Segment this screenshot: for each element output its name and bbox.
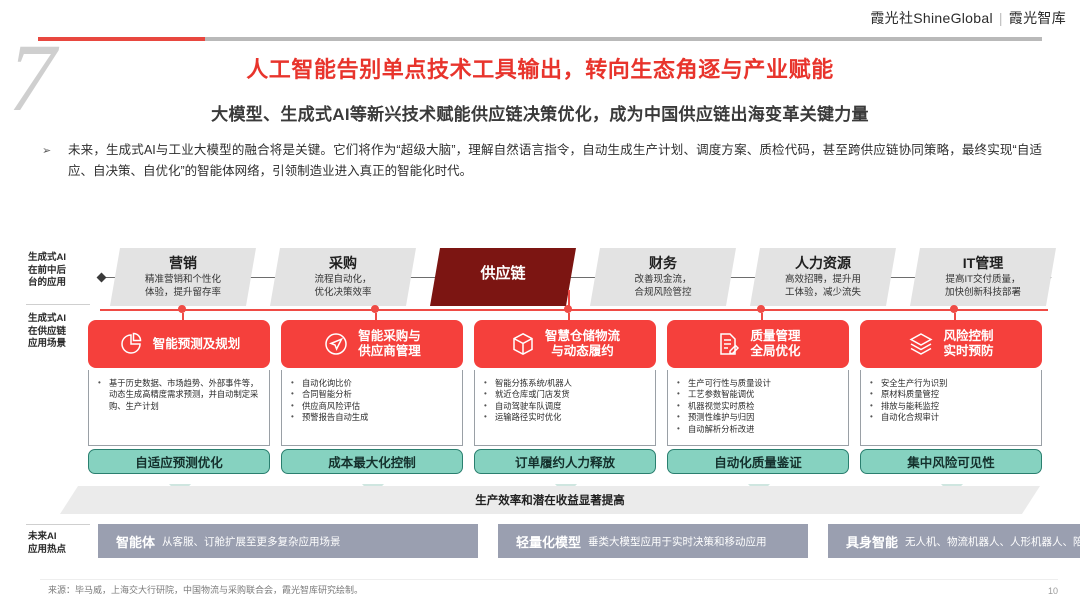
- card-title: 智慧仓储物流与动态履约: [545, 329, 620, 359]
- axis-label-frontoffice: 生成式AI 在前中后 台的应用: [28, 252, 92, 290]
- axis-label-future-ai-l1: 未来AI: [28, 531, 92, 544]
- supplychain-connector: [568, 290, 570, 310]
- card-bullet-item: 智能分拣系统/机器人: [483, 378, 649, 389]
- flow-box-3[interactable]: 供应链: [430, 248, 576, 306]
- card-body: 基于历史数据、市场趋势、外部事件等，动态生成高精度需求预测，并自动制定采购、生产…: [88, 370, 270, 446]
- flow-box-subtitle: 改善现金流，合规风险管控: [590, 274, 736, 299]
- brand-logo: 霞光社ShineGlobal|霞光智库: [870, 8, 1066, 28]
- outcome-banner-text: 生产效率和潜在收益显著提高: [475, 492, 625, 508]
- axis-node-1: [178, 305, 186, 313]
- future-ai-hotspots: 智能体从客服、订舱扩展至更多复杂应用场景轻量化模型垂类大模型应用于实时决策和移动…: [98, 524, 1048, 558]
- cube-icon: [510, 331, 536, 357]
- application-card-5[interactable]: 风险控制实时预防安全生产行为识别原材料质量管控排放与能耗监控自动化合规审计集中风…: [860, 320, 1042, 474]
- supplychain-axis-line: [100, 309, 1048, 311]
- card-body: 自动化询比价合同智能分析供应商风险评估预警报告自动生成: [281, 370, 463, 446]
- header-rule-grey: [205, 37, 1042, 41]
- layers-icon: [908, 331, 934, 357]
- axis-label-frontoffice-l2: 在前中后: [28, 265, 92, 278]
- card-bullet-item: 自动化合规审计: [869, 412, 1035, 423]
- card-header: 风险控制实时预防: [860, 320, 1042, 368]
- value-chain-flow: 营销精准营销和个性化体验，提升留存率采购流程自动化，优化决策效率供应链财务改善现…: [100, 248, 1048, 306]
- outcome-banner: 生产效率和潜在收益显著提高: [60, 486, 1040, 514]
- card-body: 智能分拣系统/机器人就近仓库或门店发货自动驾驶车队调度运输路径实时优化: [474, 370, 656, 446]
- flow-box-title: 供应链: [430, 265, 576, 283]
- intro-paragraph: ➢ 未来，生成式AI与工业大模型的融合将是关键。它们将作为“超级大脑”，理解自然…: [42, 140, 1042, 182]
- hotspot-1[interactable]: 智能体从客服、订舱扩展至更多复杂应用场景: [98, 524, 478, 558]
- flow-box-2[interactable]: 采购流程自动化，优化决策效率: [270, 248, 416, 306]
- card-header: 智能预测及规划: [88, 320, 270, 368]
- hotspot-key: 轻量化模型: [516, 532, 581, 551]
- footer-divider: [40, 579, 1058, 580]
- application-card-3[interactable]: 智慧仓储物流与动态履约智能分拣系统/机器人就近仓库或门店发货自动驾驶车队调度运输…: [474, 320, 656, 474]
- flow-box-4[interactable]: 财务改善现金流，合规风险管控: [590, 248, 736, 306]
- flow-box-title: 采购: [270, 254, 416, 272]
- card-bullet-list: 自动化询比价合同智能分析供应商风险评估预警报告自动生成: [290, 378, 456, 424]
- hotspot-key: 智能体: [116, 532, 155, 551]
- axis-node-5: [950, 305, 958, 313]
- hotspot-value: 从客服、订舱扩展至更多复杂应用场景: [162, 534, 341, 549]
- card-header: 智慧仓储物流与动态履约: [474, 320, 656, 368]
- card-bullet-item: 生产可行性与质量设计: [676, 378, 842, 389]
- card-bullet-item: 工艺参数智能调优: [676, 389, 842, 400]
- axis-divider-bottom: [26, 524, 90, 525]
- card-body: 生产可行性与质量设计工艺参数智能调优机器视觉实时质检预测性维护与归因自动解析分析…: [667, 370, 849, 446]
- application-card-2[interactable]: 智能采购与供应商管理自动化询比价合同智能分析供应商风险评估预警报告自动生成成本最…: [281, 320, 463, 474]
- card-outcome-tag[interactable]: 自适应预测优化: [88, 449, 270, 474]
- application-card-4[interactable]: 质量管理全局优化生产可行性与质量设计工艺参数智能调优机器视觉实时质检预测性维护与…: [667, 320, 849, 474]
- card-outcome-tag[interactable]: 订单履约人力释放: [474, 449, 656, 474]
- bullet-arrow-icon: ➢: [42, 141, 51, 162]
- card-bullet-item: 基于历史数据、市场趋势、外部事件等，动态生成高精度需求预测，并自动制定采购、生产…: [97, 378, 263, 412]
- header-rule-red: [38, 37, 205, 41]
- axis-label-future-ai: 未来AI 应用热点: [28, 531, 92, 556]
- flow-box-subtitle: 流程自动化，优化决策效率: [270, 274, 416, 299]
- axis-divider-top: [26, 304, 90, 305]
- card-bullet-item: 安全生产行为识别: [869, 378, 1035, 389]
- card-bullet-item: 运输路径实时优化: [483, 412, 649, 423]
- brand-left: 霞光社ShineGlobal: [870, 10, 992, 26]
- card-bullet-item: 自动化询比价: [290, 378, 456, 389]
- axis-node-4: [757, 305, 765, 313]
- hotspot-key: 具身智能: [846, 532, 898, 551]
- flow-box-subtitle: 提高IT交付质量，加快创新科技部署: [910, 274, 1056, 299]
- hotspot-2[interactable]: 轻量化模型垂类大模型应用于实时决策和移动应用: [498, 524, 808, 558]
- card-outcome-tag[interactable]: 集中风险可见性: [860, 449, 1042, 474]
- flow-box-title: 营销: [110, 254, 256, 272]
- flow-box-6[interactable]: IT管理提高IT交付质量，加快创新科技部署: [910, 248, 1056, 306]
- card-outcome-tag[interactable]: 成本最大化控制: [281, 449, 463, 474]
- card-header: 质量管理全局优化: [667, 320, 849, 368]
- flow-box-subtitle: 高效招聘，提升用工体验，减少流失: [750, 274, 896, 299]
- paper-plane-icon: [323, 331, 349, 357]
- application-cards: 智能预测及规划基于历史数据、市场趋势、外部事件等，动态生成高精度需求预测，并自动…: [88, 320, 1048, 480]
- card-outcome-tag[interactable]: 自动化质量鉴证: [667, 449, 849, 474]
- flow-box-subtitle: 精准营销和个性化体验，提升留存率: [110, 274, 256, 299]
- axis-label-frontoffice-l3: 台的应用: [28, 277, 92, 290]
- header-rule: [38, 37, 1042, 41]
- axis-label-supplychain-l3: 应用场景: [28, 338, 92, 351]
- card-bullet-item: 机器视觉实时质检: [676, 401, 842, 412]
- source-note: 来源：毕马威，上海交大行研院，中国物流与采购联合会，霞光智库研究绘制。: [48, 583, 363, 596]
- card-bullet-item: 自动驾驶车队调度: [483, 401, 649, 412]
- intro-paragraph-text: 未来，生成式AI与工业大模型的融合将是关键。它们将作为“超级大脑”，理解自然语言…: [68, 140, 1042, 182]
- application-card-1[interactable]: 智能预测及规划基于历史数据、市场趋势、外部事件等，动态生成高精度需求预测，并自动…: [88, 320, 270, 474]
- card-body: 安全生产行为识别原材料质量管控排放与能耗监控自动化合规审计: [860, 370, 1042, 446]
- axis-label-frontoffice-l1: 生成式AI: [28, 252, 92, 265]
- brand-right: 霞光智库: [1009, 10, 1066, 26]
- hotspot-value: 垂类大模型应用于实时决策和移动应用: [588, 534, 767, 549]
- card-bullet-item: 排放与能耗监控: [869, 401, 1035, 412]
- axis-label-future-ai-l2: 应用热点: [28, 544, 92, 557]
- card-bullet-list: 基于历史数据、市场趋势、外部事件等，动态生成高精度需求预测，并自动制定采购、生产…: [97, 378, 263, 412]
- axis-label-supplychain-l1: 生成式AI: [28, 313, 92, 326]
- card-bullet-item: 预警报告自动生成: [290, 412, 456, 423]
- card-header: 智能采购与供应商管理: [281, 320, 463, 368]
- pie-chart-icon: [118, 331, 144, 357]
- card-bullet-item: 原材料质量管控: [869, 389, 1035, 400]
- brand-separator: |: [999, 10, 1003, 26]
- card-bullet-item: 就近仓库或门店发货: [483, 389, 649, 400]
- card-bullet-item: 合同智能分析: [290, 389, 456, 400]
- flow-box-title: 人力资源: [750, 254, 896, 272]
- card-title: 风险控制实时预防: [943, 329, 993, 359]
- hotspot-value: 无人机、物流机器人、人形机器人、陪伴机器人: [905, 534, 1080, 549]
- card-bullet-item: 自动解析分析改进: [676, 424, 842, 435]
- card-title: 智能采购与供应商管理: [358, 329, 421, 359]
- flow-box-title: 财务: [590, 254, 736, 272]
- page-title: 人工智能告别单点技术工具输出，转向生态角逐与产业赋能: [0, 52, 1080, 84]
- card-bullet-list: 生产可行性与质量设计工艺参数智能调优机器视觉实时质检预测性维护与归因自动解析分析…: [676, 378, 842, 435]
- hotspot-3[interactable]: 具身智能无人机、物流机器人、人形机器人、陪伴机器人: [828, 524, 1080, 558]
- page-number: 10: [1048, 586, 1058, 596]
- axis-label-supplychain: 生成式AI 在供应链 应用场景: [28, 313, 92, 351]
- card-title: 质量管理全局优化: [750, 329, 800, 359]
- axis-label-supplychain-l2: 在供应链: [28, 326, 92, 339]
- card-bullet-list: 智能分拣系统/机器人就近仓库或门店发货自动驾驶车队调度运输路径实时优化: [483, 378, 649, 424]
- flow-box-1[interactable]: 营销精准营销和个性化体验，提升留存率: [110, 248, 256, 306]
- axis-node-2: [371, 305, 379, 313]
- page-subtitle: 大模型、生成式AI等新兴技术赋能供应链决策优化，成为中国供应链出海变革关键力量: [0, 100, 1080, 125]
- document-edit-icon: [715, 331, 741, 357]
- flow-box-title: IT管理: [910, 254, 1056, 272]
- card-bullet-item: 预测性维护与归因: [676, 412, 842, 423]
- card-bullet-list: 安全生产行为识别原材料质量管控排放与能耗监控自动化合规审计: [869, 378, 1035, 424]
- card-title: 智能预测及规划: [153, 337, 241, 352]
- flow-box-5[interactable]: 人力资源高效招聘，提升用工体验，减少流失: [750, 248, 896, 306]
- card-bullet-item: 供应商风险评估: [290, 401, 456, 412]
